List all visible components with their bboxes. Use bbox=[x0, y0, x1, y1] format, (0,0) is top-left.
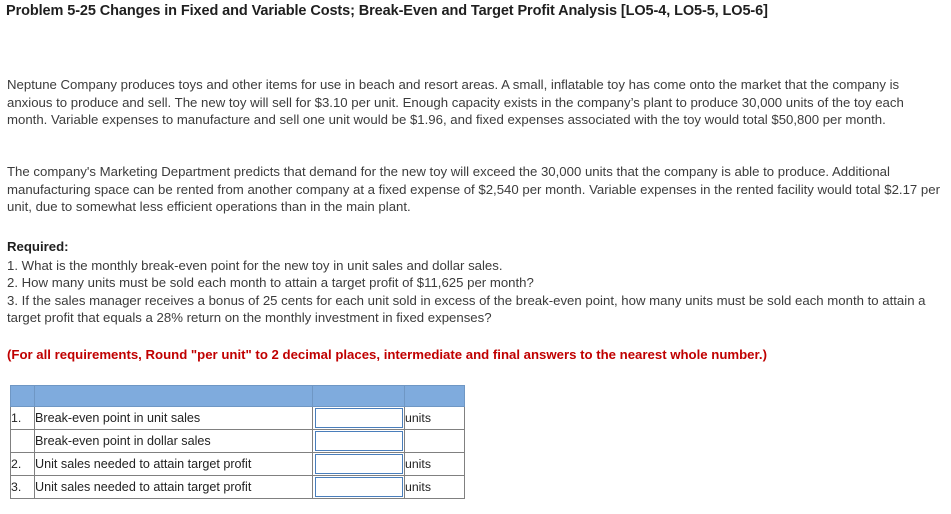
answer-input-bonus-target-profit-units[interactable] bbox=[315, 477, 403, 497]
requirement-item-3: 3. If the sales manager receives a bonus… bbox=[7, 292, 945, 327]
row-number: 3. bbox=[11, 476, 35, 499]
row-unit-label bbox=[405, 430, 465, 453]
answer-input-cell[interactable] bbox=[313, 453, 405, 476]
requirement-item-2: 2. How many units must be sold each mont… bbox=[7, 274, 945, 292]
page-title: Problem 5-25 Changes in Fixed and Variab… bbox=[6, 2, 946, 21]
header-cell-label bbox=[35, 386, 313, 407]
answer-input-target-profit-units[interactable] bbox=[315, 454, 403, 474]
table-row: Break-even point in dollar sales bbox=[11, 430, 465, 453]
table-row: 2. Unit sales needed to attain target pr… bbox=[11, 453, 465, 476]
answer-input-cell[interactable] bbox=[313, 407, 405, 430]
answer-table-container: 1. Break-even point in unit sales units … bbox=[10, 385, 465, 499]
row-number: 1. bbox=[11, 407, 35, 430]
header-cell-input bbox=[313, 386, 405, 407]
answer-input-breakeven-dollars[interactable] bbox=[315, 431, 403, 451]
table-row: 1. Break-even point in unit sales units bbox=[11, 407, 465, 430]
problem-paragraph-1: Neptune Company produces toys and other … bbox=[7, 76, 945, 129]
input-wrapper bbox=[314, 408, 404, 428]
answer-input-cell[interactable] bbox=[313, 476, 405, 499]
header-cell-number bbox=[11, 386, 35, 407]
answer-table: 1. Break-even point in unit sales units … bbox=[10, 385, 465, 499]
row-unit-label: units bbox=[405, 453, 465, 476]
header-cell-unit bbox=[405, 386, 465, 407]
row-label: Break-even point in dollar sales bbox=[35, 430, 313, 453]
row-label: Break-even point in unit sales bbox=[35, 407, 313, 430]
answer-input-breakeven-units[interactable] bbox=[315, 408, 403, 428]
row-unit-label: units bbox=[405, 407, 465, 430]
table-header-row bbox=[11, 386, 465, 407]
rounding-instruction-note: (For all requirements, Round "per unit" … bbox=[7, 346, 945, 363]
row-unit-label: units bbox=[405, 476, 465, 499]
input-wrapper bbox=[314, 454, 404, 474]
row-number bbox=[11, 430, 35, 453]
row-number: 2. bbox=[11, 453, 35, 476]
row-label: Unit sales needed to attain target profi… bbox=[35, 453, 313, 476]
problem-page: Problem 5-25 Changes in Fixed and Variab… bbox=[0, 0, 951, 514]
row-label: Unit sales needed to attain target profi… bbox=[35, 476, 313, 499]
input-wrapper bbox=[314, 431, 404, 451]
required-heading: Required: bbox=[7, 238, 945, 256]
answer-input-cell[interactable] bbox=[313, 430, 405, 453]
requirement-item-1: 1. What is the monthly break-even point … bbox=[7, 257, 945, 275]
problem-paragraph-2: The company's Marketing Department predi… bbox=[7, 163, 945, 216]
table-row: 3. Unit sales needed to attain target pr… bbox=[11, 476, 465, 499]
required-section: Required: 1. What is the monthly break-e… bbox=[7, 238, 945, 327]
input-wrapper bbox=[314, 477, 404, 497]
